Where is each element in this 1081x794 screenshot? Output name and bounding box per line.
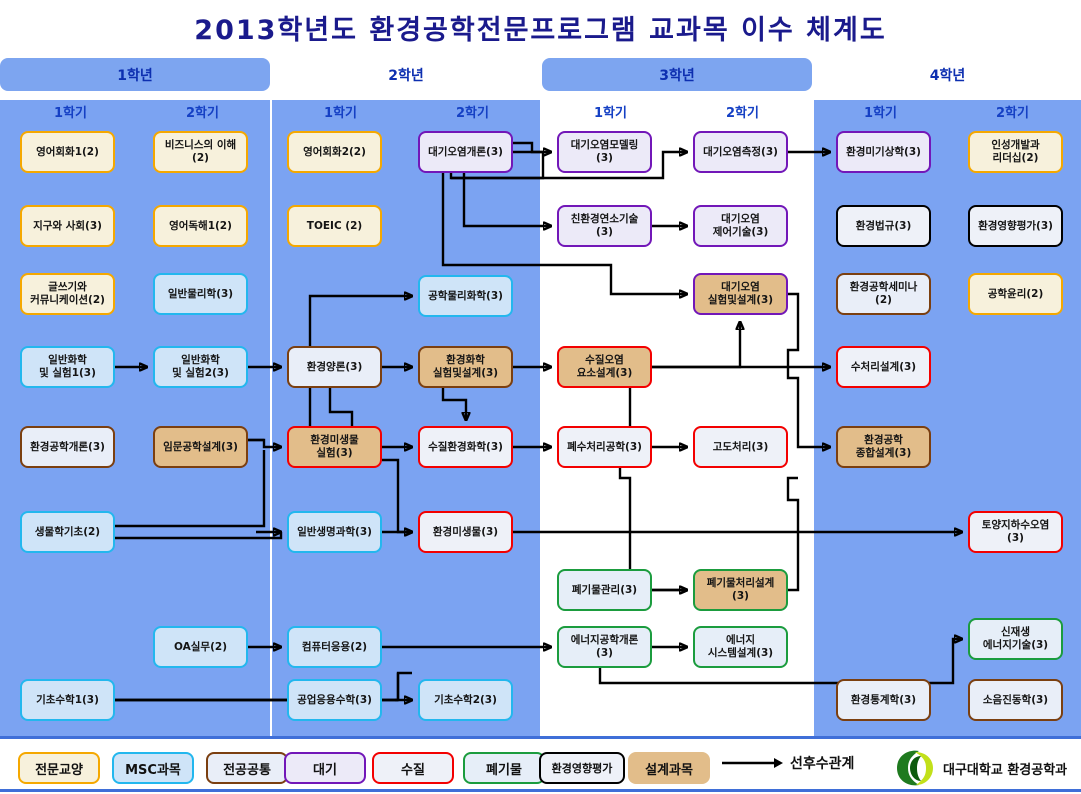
course-box[interactable]: 폐수처리공학(3) (557, 426, 652, 468)
course-box[interactable]: 기초수학2(3) (418, 679, 513, 721)
course-box[interactable]: OA실무(2) (153, 626, 248, 668)
course-box[interactable]: 에너지공학개론 (3) (557, 626, 652, 668)
course-box[interactable]: 토양지하수오염 (3) (968, 511, 1063, 553)
course-box[interactable]: 비즈니스의 이해 (2) (153, 131, 248, 173)
course-box[interactable]: 영어독해1(2) (153, 205, 248, 247)
course-box[interactable]: 신재생 에너지기술(3) (968, 618, 1063, 660)
wire-airlabdesign-capstone (788, 294, 830, 447)
course-box[interactable]: 에너지 시스템설계(3) (693, 626, 788, 668)
course-box[interactable]: 대기오염 제어기술(3) (693, 205, 788, 247)
course-box[interactable]: 글쓰기와 커뮤니케이션(2) (20, 273, 115, 315)
wire-airintro-greencombust (464, 173, 551, 226)
wire-envchemlab-waterchem (443, 388, 466, 420)
wire-envbalance-engphyschem (310, 296, 412, 346)
course-box[interactable]: 임문공학설계(3) (153, 426, 248, 468)
wire-waterpollut-wastedesign-trunk (620, 367, 687, 590)
wire-envmicrolab-envmicro (382, 460, 412, 532)
course-box[interactable]: 공학윤리(2) (968, 273, 1063, 315)
course-box[interactable]: 대기오염개론(3) (418, 131, 513, 173)
course-box[interactable]: 환경미기상학(3) (836, 131, 931, 173)
course-box[interactable]: 영어회화2(2) (287, 131, 382, 173)
course-box[interactable]: 컴퓨터응용(2) (287, 626, 382, 668)
course-box[interactable]: 환경공학세미나 (2) (836, 273, 931, 315)
course-box[interactable]: 생물학기초(2) (20, 511, 115, 553)
course-box[interactable]: 환경법규(3) (836, 205, 931, 247)
course-box[interactable]: 지구와 사회(3) (20, 205, 115, 247)
course-box[interactable]: 기초수학1(3) (20, 679, 115, 721)
course-box[interactable]: 환경미생물 실험(3) (287, 426, 382, 468)
connector-layer (0, 0, 1081, 794)
course-box[interactable]: 영어회화1(2) (20, 131, 115, 173)
wire-airintro-airmodel (513, 143, 551, 152)
course-box[interactable]: 환경미생물(3) (418, 511, 513, 553)
course-box[interactable]: 일반화학 및 실험2(3) (153, 346, 248, 388)
course-box[interactable]: 대기오염모델링 (3) (557, 131, 652, 173)
course-box[interactable]: 환경통계학(3) (836, 679, 931, 721)
course-box[interactable]: 대기오염 실험및설계(3) (693, 273, 788, 315)
course-box[interactable]: 환경공학개론(3) (20, 426, 115, 468)
course-box[interactable]: 폐기물처리설계 (3) (693, 569, 788, 611)
wire-waterpollut-airlabdesign (652, 322, 740, 367)
course-box[interactable]: 일반화학 및 실험1(3) (20, 346, 115, 388)
course-box[interactable]: 일반생명과학(3) (287, 511, 382, 553)
course-box[interactable]: 수처리설계(3) (836, 346, 931, 388)
course-box[interactable]: 환경영향평가(3) (968, 205, 1063, 247)
course-box[interactable]: 소음진동학(3) (968, 679, 1063, 721)
course-box[interactable]: 대기오염측정(3) (693, 131, 788, 173)
course-box[interactable]: 수질오염 요소설계(3) (557, 346, 652, 388)
course-box[interactable]: 공학물리화학(3) (418, 275, 513, 317)
course-box[interactable]: 폐기물관리(3) (557, 569, 652, 611)
course-box[interactable]: 일반물리학(3) (153, 273, 248, 315)
course-box[interactable]: 인성개발과 리더십(2) (968, 131, 1063, 173)
wire-wastedesign-capstone (788, 478, 798, 590)
course-box[interactable]: 환경공학 종합설계(3) (836, 426, 931, 468)
course-box[interactable]: 친환경연소기술 (3) (557, 205, 652, 247)
course-box[interactable]: 환경화학 실험및설계(3) (418, 346, 513, 388)
course-box[interactable]: 환경양론(3) (287, 346, 382, 388)
course-box[interactable]: 공업응용수학(3) (287, 679, 382, 721)
course-box[interactable]: 고도처리(3) (693, 426, 788, 468)
course-box[interactable]: TOEIC (2) (287, 205, 382, 247)
course-box[interactable]: 수질환경화학(3) (418, 426, 513, 468)
